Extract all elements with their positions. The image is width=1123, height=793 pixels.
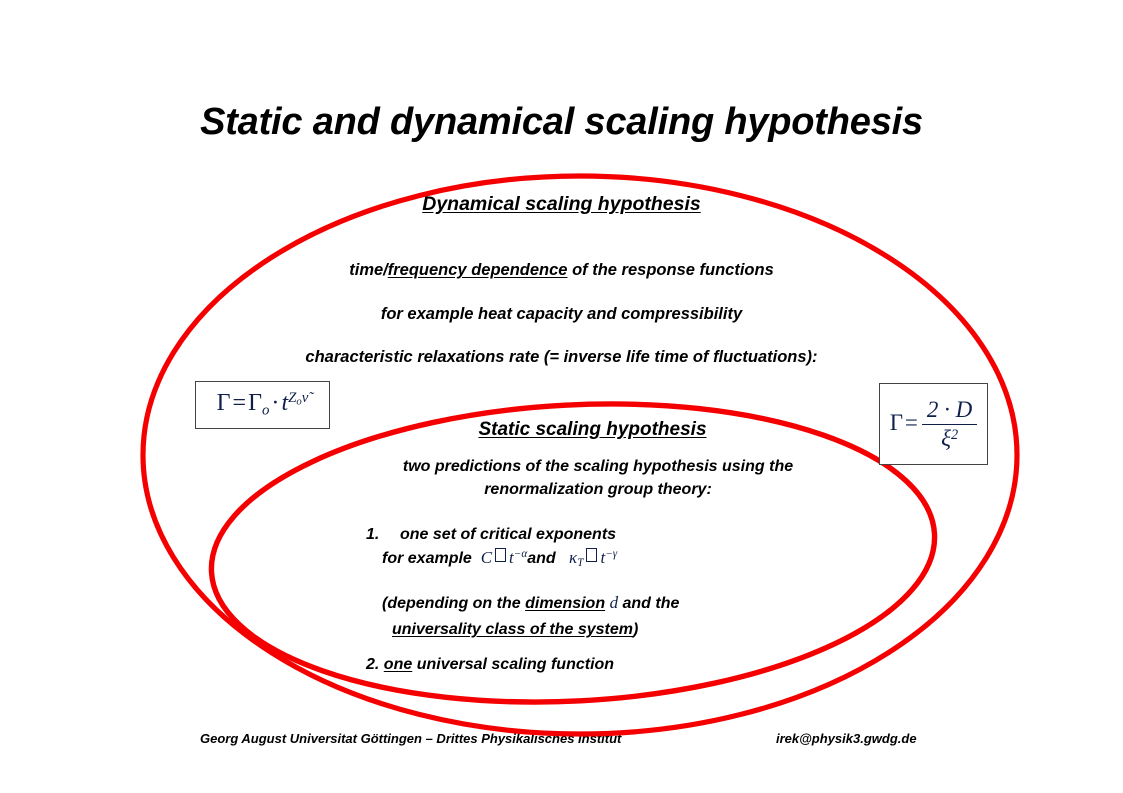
math-exponent-alpha: −α (514, 548, 527, 560)
formula-right-numerator: 2 · D (922, 397, 977, 424)
slide-canvas: Static and dynamical scaling hypothesis … (0, 0, 1123, 793)
paren-line-2: universality class of the system) (392, 617, 679, 643)
formula-left-content: Γ = Γo · tZoν̃ (217, 390, 309, 419)
formula-left-exponent-nu: ν̃ (302, 390, 309, 406)
paren-line-2-suffix: ) (633, 621, 638, 638)
formula-right-gamma: Γ (890, 409, 903, 434)
formula-left-gamma-2: Γ (248, 391, 262, 417)
formula-left-gamma-subscript: o (262, 403, 269, 419)
static-parenthetical: (depending on the dimension d and the un… (382, 590, 679, 643)
formula-right-content: Γ =2 · Dξ2 (890, 397, 978, 452)
missing-glyph-box-icon (586, 548, 597, 562)
static-item-1-line-2: for example Ct−αand κTt−γ (382, 548, 617, 569)
paren-line-1-prefix: (depending on the (382, 595, 525, 612)
dynamical-line-1-prefix: time/ (349, 261, 388, 279)
dynamical-heading: Dynamical scaling hypothesis (0, 193, 1123, 216)
dynamical-line-1: time/frequency dependence of the respons… (0, 261, 1123, 280)
footer-affiliation: Georg August Universitat Göttingen – Dri… (200, 731, 621, 746)
dynamical-line-3: characteristic relaxations rate (= inver… (0, 348, 1123, 367)
static-item-1-math-compressibility: κTt−γ (569, 548, 617, 567)
formula-right-fraction: 2 · Dξ2 (922, 397, 977, 452)
static-heading-text: Static scaling hypothesis (478, 419, 706, 440)
static-item-1-line-1: one set of critical exponents (400, 526, 616, 543)
footer-email[interactable]: irek@physik3.gwdg.de (776, 731, 917, 746)
paren-line-2-emphasis: universality class of the system (392, 621, 633, 638)
dynamical-heading-text: Dynamical scaling hypothesis (422, 193, 701, 215)
formula-left-gamma: Γ (217, 391, 231, 417)
formula-left-exponent: Zoν̃ (288, 390, 308, 406)
formula-right-denominator-exponent: 2 (951, 426, 958, 442)
formula-box-diffusion: Γ =2 · Dξ2 (879, 383, 988, 465)
static-item-2: 2. one universal scaling function (366, 656, 614, 674)
math-exponent-gamma: −γ (605, 548, 617, 560)
paren-line-1-emphasis: dimension (525, 595, 605, 612)
static-item-2-rest: universal scaling function (412, 656, 614, 673)
static-item-2-number: 2. (366, 656, 379, 673)
static-intro-text: two predictions of the scaling hypothesi… (363, 455, 833, 501)
page-title: Static and dynamical scaling hypothesis (0, 101, 1123, 144)
paren-line-1-suffix: and the (618, 595, 679, 612)
formula-box-relaxation-rate: Γ = Γo · tZoν̃ (195, 381, 330, 429)
formula-left-dot: · (271, 391, 279, 417)
static-item-2-emphasis: one (384, 656, 412, 673)
static-item-1-line-2-mid: and (527, 550, 555, 567)
static-item-1-line-2-prefix: for example (382, 550, 472, 567)
dynamical-line-2: for example heat capacity and compressib… (0, 305, 1123, 324)
static-item-1-number: 1. (366, 526, 400, 544)
paren-line-1: (depending on the dimension d and the (382, 595, 679, 612)
formula-right-denominator: ξ2 (922, 424, 977, 452)
static-item-1: 1.one set of critical exponents for exam… (366, 526, 617, 569)
dynamical-line-1-suffix: of the response functions (567, 261, 773, 279)
dynamical-line-1-emphasis: frequency dependence (388, 261, 568, 279)
formula-left-equals: = (233, 391, 247, 417)
math-symbol-kappa: κ (569, 548, 577, 567)
static-item-1-math-heat-capacity: Ct−α (481, 548, 528, 567)
math-symbol-kappa-subscript: T (577, 557, 583, 569)
missing-glyph-box-icon (495, 548, 506, 562)
formula-right-equals: = (905, 409, 918, 434)
paren-line-1-variable: d (610, 593, 619, 612)
math-symbol-c: C (481, 548, 492, 567)
formula-right-denominator-base: ξ (941, 426, 951, 451)
